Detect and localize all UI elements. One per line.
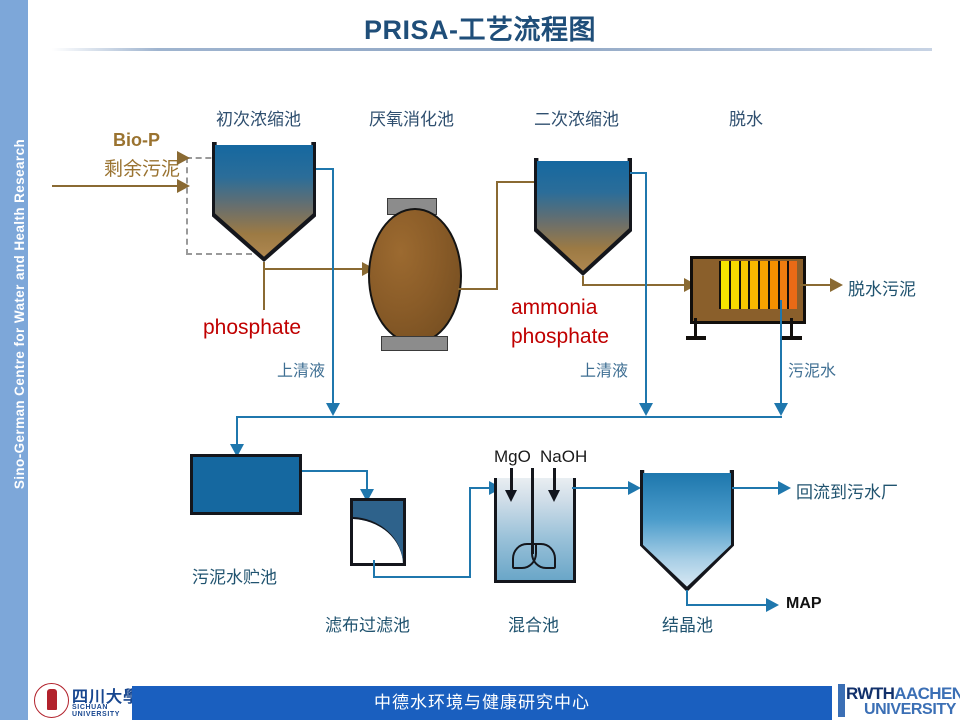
supernatant1-arrow — [326, 403, 340, 416]
sidebar-brand-bar: Sino-German Centre for Water and Health … — [0, 0, 28, 668]
storage-out-line — [302, 470, 368, 472]
cake-out-arrow — [830, 278, 843, 292]
cloth-filter-curve-line — [351, 517, 403, 565]
crystallizer-tank — [640, 470, 734, 592]
sludge-water-arrow — [774, 403, 788, 416]
sludge-water-down — [780, 300, 782, 404]
secondary-sludge-right — [582, 284, 686, 286]
label-phosphate-secondary: phosphate — [511, 325, 609, 349]
rwth-accent-bar — [838, 684, 845, 717]
digester-out-to-sec — [496, 181, 536, 183]
label-sludge-water-storage: 污泥水贮池 — [192, 563, 277, 588]
supernatant1-down — [332, 168, 334, 404]
label-mgo: MgO — [494, 447, 531, 467]
map-arrow — [766, 598, 779, 612]
cake-out-line — [800, 284, 832, 286]
label-sludge-water: 污泥水 — [788, 357, 836, 381]
rwth-logo-line2: UNIVERSITY — [864, 701, 956, 719]
naoh-dose-line — [553, 468, 556, 492]
label-primary-thickener: 初次浓缩池 — [216, 105, 301, 130]
slide-canvas: Sino-German Centre for Water and Health … — [0, 0, 960, 720]
label-naoh: NaOH — [540, 447, 587, 467]
mixer-out-line — [572, 487, 630, 489]
filter-press-body — [690, 256, 806, 324]
sichuan-university-logo: 四川大學 SICHUAN UNIVERSITY — [34, 682, 140, 718]
rwth-aachen-logo: RWTHAACHEN UNIVERSITY — [846, 684, 956, 720]
label-anaerobic-digester: 厌氧消化池 — [369, 105, 454, 130]
supernatant2-arrow — [639, 403, 653, 416]
digester-vessel — [368, 208, 462, 344]
feed-arrow-solid — [177, 179, 190, 193]
label-bio-p: Bio-P — [113, 130, 160, 151]
storage-tank — [190, 457, 302, 515]
secondary-thickener-fill — [537, 161, 629, 273]
sichuan-logo-en: SICHUAN UNIVERSITY — [72, 704, 140, 718]
mgo-dose-arrow — [505, 490, 517, 502]
label-surplus-sludge: 剩余污泥 — [104, 154, 180, 181]
sidebar-brand-bar-footer — [0, 668, 28, 720]
title-divider — [52, 48, 932, 51]
page-title: PRISA-工艺流程图 — [0, 8, 960, 47]
label-cloth-filter: 滤布过滤池 — [325, 611, 410, 636]
label-dewatered-sludge: 脱水污泥 — [848, 275, 916, 300]
digester-out-up — [496, 181, 498, 289]
sidebar-brand-text: Sino-German Centre for Water and Health … — [6, 0, 34, 634]
label-map-product: MAP — [786, 595, 822, 613]
supernatant2-down — [645, 172, 647, 404]
crystallizer-fill — [643, 473, 731, 589]
return-line — [732, 487, 780, 489]
impeller-shaft — [531, 468, 534, 554]
label-crystallizer: 结晶池 — [662, 611, 713, 636]
label-dewatering: 脱水 — [729, 105, 763, 130]
feed-line-solid — [52, 185, 177, 187]
sichuan-seal-icon — [34, 683, 69, 718]
digester-base-plate — [381, 336, 448, 351]
primary-thickener-fill — [215, 145, 313, 259]
label-ammonia: ammonia — [511, 296, 597, 320]
primary-sludge-right — [263, 268, 363, 270]
naoh-dose-arrow — [548, 490, 560, 502]
filter-press-foot-left — [686, 336, 706, 340]
recycle-arrow — [177, 151, 190, 165]
label-supernatant-1: 上清液 — [277, 357, 325, 381]
label-secondary-thickener: 二次浓缩池 — [534, 105, 619, 130]
cloth-filter-unit — [350, 498, 406, 566]
label-phosphate-primary: phosphate — [203, 316, 301, 340]
manifold-header — [236, 416, 782, 418]
digester-out-right — [458, 288, 498, 290]
footer-center-text: 中德水环境与健康研究中心 — [132, 686, 832, 720]
secondary-thickener-tank — [534, 158, 632, 276]
label-mixing-tank: 混合池 — [508, 611, 559, 636]
map-line-right — [686, 604, 768, 606]
cloth-out-to-mixer — [469, 487, 491, 489]
label-supernatant-2: 上清液 — [580, 357, 628, 381]
recycle-line-vertical — [186, 157, 188, 255]
filter-press-plates — [719, 261, 797, 309]
cloth-out-right — [373, 576, 471, 578]
primary-thickener-tank — [212, 142, 316, 262]
cloth-out-up — [469, 487, 471, 577]
return-arrow — [778, 481, 791, 495]
footer-banner: 中德水环境与健康研究中心 — [132, 686, 832, 720]
filter-press-foot-right — [782, 336, 802, 340]
label-return-to-wwtp: 回流到污水厂 — [796, 478, 898, 503]
mgo-dose-line — [510, 468, 513, 492]
